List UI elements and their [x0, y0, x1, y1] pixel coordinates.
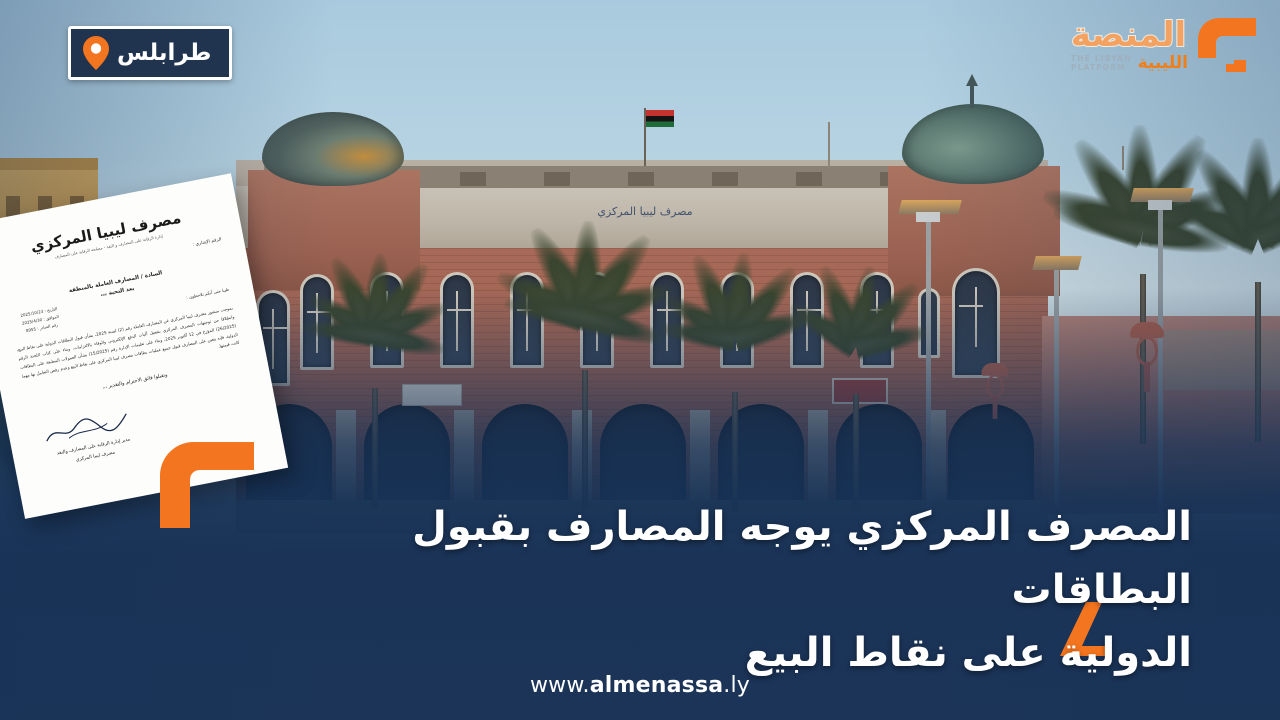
logo-text-block: المنصة الليبية THE LIBYAN PLATFORM	[1071, 18, 1188, 73]
document-signature-block: مدير إدارة الرقابة على المصارف والنقد مص…	[34, 405, 151, 473]
logo-latin-line1: THE LIBYAN	[1071, 54, 1132, 63]
location-badge[interactable]: طرابلس	[68, 26, 232, 80]
brand-hook-mark	[160, 442, 254, 528]
headline-line-1: المصرف المركزي يوجه المصارف بقبول البطاق…	[272, 496, 1192, 622]
website-url[interactable]: www.almenassa.ly	[0, 673, 1280, 698]
logo-arabic-primary: المنصة	[1071, 18, 1186, 52]
map-pin-icon	[83, 36, 109, 70]
site-logo[interactable]: المنصة الليبية THE LIBYAN PLATFORM	[1071, 14, 1256, 76]
url-prefix: www.	[530, 673, 590, 698]
news-graphic-card: مصرف ليبيا المركزي	[0, 0, 1280, 720]
location-badge-label: طرابلس	[117, 42, 211, 65]
logo-bracket-mark	[1194, 14, 1256, 76]
url-tld: .ly	[723, 673, 750, 698]
logo-latin-text: THE LIBYAN PLATFORM	[1071, 54, 1132, 73]
logo-latin-line2: PLATFORM	[1071, 63, 1132, 72]
url-name: almenassa	[590, 673, 724, 698]
headline: المصرف المركزي يوجه المصارف بقبول البطاق…	[272, 496, 1192, 686]
logo-arabic-secondary: الليبية	[1138, 55, 1188, 72]
